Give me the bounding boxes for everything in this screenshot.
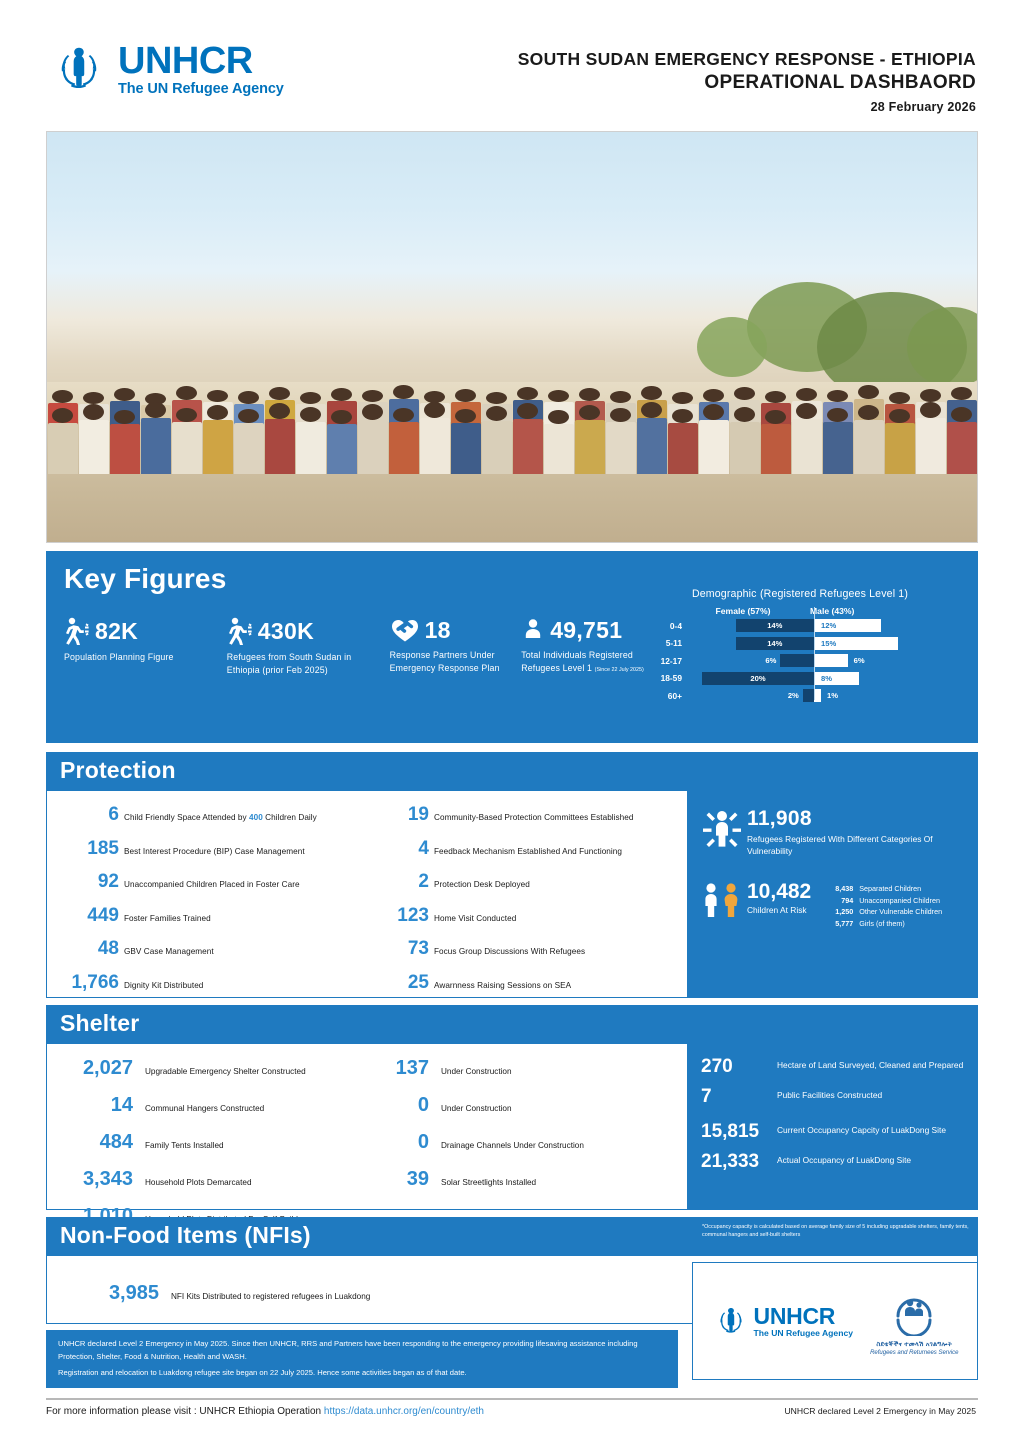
panel-stat-value: 21,333 [701,1151,777,1172]
stat-row: 73Focus Group Discussions With Refugees [377,939,687,959]
stat-label: Household Plots Demarcated [145,1177,252,1188]
demographic-chart: Demographic (Registered Refugees Level 1… [644,587,956,706]
stat-value: 92 [67,872,119,892]
female-bar: 20% [702,672,814,685]
male-bar-wrap: 6% [814,654,952,667]
stat-row: 92Unaccompanied Children Placed in Foste… [67,872,377,892]
stat-label: Upgradable Emergency Shelter Constructed [145,1066,306,1077]
female-bar-value: 6% [765,656,776,665]
demographic-row: 5-1114%15% [644,636,956,651]
dashboard-page: UNHCR The UN Refugee Agency SOUTH SUDAN … [0,0,1024,1449]
stat-value: 123 [377,906,429,926]
demographic-row: 18-5920%8% [644,671,956,686]
stat-row: 6Child Friendly Space Attended by 400 Ch… [67,805,377,825]
stat-row: 48GBV Case Management [67,939,377,959]
breakdown-row: 1,250Other Vulnerable Children [821,907,942,918]
male-bar-value: 6% [854,656,865,665]
stat-value: 484 [61,1132,133,1153]
stat-label: Community-Based Protection Committees Es… [434,812,634,823]
footer-note: UNHCR declared Level 2 Emergency in May … [784,1406,978,1417]
panel-stat-row: 15,815Current Occupancy Capcity of LuakD… [701,1121,965,1142]
rrs-emblem-icon [886,1286,942,1336]
female-bar: 14% [736,619,814,632]
stat-label: Awarnness Raising Sessions on SEA [434,980,571,991]
emergency-note-line2: Registration and relocation to Luakdong … [58,1367,668,1380]
stat-value: 449 [67,906,119,926]
stat-value: 19 [377,805,429,825]
breakdown-label: Separated Children [859,884,921,895]
legend-male: Male (43%) [796,606,956,616]
key-figure-label: Refugees from South Sudan in Ethiopia (p… [227,651,378,676]
stat-row: 19Community-Based Protection Committees … [377,805,687,825]
vulnerability-block: 11,908 Refugees Registered With Differen… [687,791,977,857]
male-bar: 15% [814,637,898,650]
stat-label: Child Friendly Space Attended by 400 Chi… [124,812,317,823]
legend-female: Female (57%) [644,606,796,616]
stat-value: 2,027 [61,1058,133,1079]
unhcr-logo: UNHCR The UN Refugee Agency [48,38,284,100]
occupancy-disclaimer: *Occupancy capacity is calculated based … [692,1217,978,1245]
female-bar [803,689,814,702]
header-titles: SOUTH SUDAN EMERGENCY RESPONSE - ETHIOPI… [518,48,976,114]
panel-stat-value: 15,815 [701,1121,777,1142]
demographic-legend: Female (57%) Male (43%) [644,606,956,616]
key-figure-label: Population Planning Figure [64,651,215,664]
stat-value: 73 [377,939,429,959]
panel-stat-value: 270 [701,1056,777,1077]
stat-label: Unaccompanied Children Placed in Foster … [124,879,300,890]
stat-label: Solar Streetlights Installed [441,1177,536,1188]
male-bar-wrap: 8% [814,672,952,685]
male-bar-value: 1% [827,691,838,700]
vulnerability-value: 11,908 [747,807,977,830]
stat-value: 0 [379,1132,429,1153]
stat-value: 14 [61,1095,133,1116]
stat-row: 185Best Interest Procedure (BIP) Case Ma… [67,839,377,859]
partners-handshake-heart-icon [390,617,420,643]
shelter-column-right: 137Under Construction0Under Construction… [379,1058,679,1209]
stat-value: 137 [379,1058,429,1079]
stat-label: Dignity Kit Distributed [124,980,203,991]
footer-divider [46,1398,978,1400]
stat-label: Home Visit Conducted [434,913,516,924]
key-figure-sublabel: (Since 22 July 2025) [595,667,644,673]
emergency-note: UNHCR declared Level 2 Emergency in May … [46,1330,678,1388]
protection-stats: 6Child Friendly Space Attended by 400 Ch… [47,791,687,997]
female-bar [780,654,814,667]
stat-row: 137Under Construction [379,1058,679,1079]
panel-stat-value: 7 [701,1086,777,1107]
key-figure-item: 82K Population Planning Figure [64,617,227,676]
stat-row: 2,027Upgradable Emergency Shelter Constr… [61,1058,379,1079]
logo-tagline: The UN Refugee Agency [118,81,284,97]
hero-photo [46,131,978,543]
shelter-section: Shelter 2,027Upgradable Emergency Shelte… [46,1005,978,1209]
stat-value: 48 [67,939,119,959]
protection-highlight-panel: 11,908 Refugees Registered With Differen… [687,791,977,997]
stat-row: 3,343Household Plots Demarcated [61,1169,379,1190]
stat-label: Under Construction [441,1066,512,1077]
male-bar [814,654,848,667]
stat-row: 123Home Visit Conducted [377,906,687,926]
panel-stat-label: Hectare of Land Surveyed, Cleaned and Pr… [777,1056,963,1072]
stat-row: 0Under Construction [379,1095,679,1116]
rrs-name-english: Refugees and Returnees Service [870,1350,958,1356]
breakdown-label: Unaccompanied Children [859,896,940,907]
page-header: UNHCR The UN Refugee Agency SOUTH SUDAN … [0,0,1024,122]
stat-row: 484Family Tents Installed [61,1132,379,1153]
stat-label: Best Interest Procedure (BIP) Case Manag… [124,846,305,857]
footer-info: For more information please visit : UNHC… [46,1406,484,1417]
stat-row: 25Awarnness Raising Sessions on SEA [377,973,687,993]
children-at-risk-value: 10,482 [747,881,811,903]
key-figure-item: 18 Response Partners Under Emergency Res… [390,617,522,676]
key-figure-label: Response Partners Under Emergency Respon… [390,649,510,674]
protection-title: Protection [46,752,978,791]
age-group-label: 18-59 [644,673,688,683]
stat-row: 1,766Dignity Kit Distributed [67,973,377,993]
male-bar: 8% [814,672,859,685]
female-bar: 14% [736,637,814,650]
stat-row: 39Solar Streetlights Installed [379,1169,679,1190]
refugee-walking-icon [227,617,253,645]
logo-wordmark: UNHCR [118,42,284,80]
male-bar-wrap: 15% [814,637,952,650]
stat-row: 14Communal Hangers Constructed [61,1095,379,1116]
key-figure-item: 430K Refugees from South Sudan in Ethiop… [227,617,390,676]
person-icon [521,617,545,643]
children-breakdown: 8,438Separated Children794Unaccompanied … [821,884,942,930]
breakdown-row: 5,777Girls (of them) [821,919,942,930]
stat-row: 2Protection Desk Deployed [377,872,687,892]
male-bar: 12% [814,619,881,632]
panel-stat-label: Current Occupancy Capcity of LuakDong Si… [777,1121,946,1137]
stat-value: 185 [67,839,119,859]
stat-label: GBV Case Management [124,946,214,957]
unhcr-logo-footer: UNHCR The UN Refugee Agency [712,1302,853,1340]
demographic-axis [814,607,815,700]
stat-highlight-value: 400 [249,813,263,822]
stat-label: Focus Group Discussions With Refugees [434,946,585,957]
key-figure-value: 18 [425,617,451,643]
stat-value: 6 [67,805,119,825]
panel-stat-label: Actual Occupancy of LuakDong Site [777,1151,911,1167]
stat-row: 0Drainage Channels Under Construction [379,1132,679,1153]
unhcr-logo-footer-wordmark: UNHCR [754,1305,853,1328]
key-figures-list: 82K Population Planning Figure 430K Ref [64,617,684,676]
age-group-label: 5-11 [644,638,688,648]
page-footer: For more information please visit : UNHC… [46,1406,978,1417]
two-children-icon [701,881,747,926]
key-figures-section: Key Figures 82K Population Planning Figu… [46,551,978,743]
children-at-risk-block: 10,482 Children At Risk 8,438Separated C… [687,857,977,930]
demographic-title-sub: (Registered Refugees Level 1) [760,588,908,600]
age-group-label: 12-17 [644,656,688,666]
nfi-label: NFI Kits Distributed to registered refug… [171,1292,370,1301]
demographic-row: 60+2%1% [644,688,956,703]
shelter-highlight-panel: 270Hectare of Land Surveyed, Cleaned and… [687,1044,977,1209]
stat-value: 2 [377,872,429,892]
stat-value: 3,343 [61,1169,133,1190]
male-bar-wrap: 12% [814,619,952,632]
demographic-bars: 0-414%12%5-1114%15%12-176%6%18-5920%8%60… [644,618,956,703]
protection-column-left: 6Child Friendly Space Attended by 400 Ch… [67,805,377,997]
female-bar-wrap: 2% [688,689,814,702]
stat-value: 1,766 [67,973,119,993]
key-figure-value: 430K [258,618,314,644]
stat-value: 4 [377,839,429,859]
male-bar [814,689,821,702]
breakdown-value: 1,250 [821,907,853,918]
stat-value: 25 [377,973,429,993]
report-date: 28 February 2026 [518,100,976,114]
demographic-title-main: Demographic [692,588,757,600]
shelter-title: Shelter [46,1005,978,1044]
unhcr-emblem-icon [48,38,110,100]
page-title: SOUTH SUDAN EMERGENCY RESPONSE - ETHIOPI… [518,48,976,70]
key-figure-value: 82K [95,618,138,644]
refugee-walking-icon [64,617,90,645]
footer-link[interactable]: https://data.unhcr.org/en/country/eth [324,1406,484,1417]
rrs-logo: ስደቴኞችና ተመላሽ አገልግሎት Refugees and Returnee… [870,1286,958,1356]
stat-value: 0 [379,1095,429,1116]
panel-stat-row: 270Hectare of Land Surveyed, Cleaned and… [701,1056,965,1077]
protection-column-right: 19Community-Based Protection Committees … [377,805,687,997]
female-bar-wrap: 14% [688,637,814,650]
stat-label: Foster Families Trained [124,913,211,924]
nfi-value: 3,985 [69,1282,159,1305]
shelter-stats: 2,027Upgradable Emergency Shelter Constr… [47,1044,687,1209]
vulnerability-label: Refugees Registered With Different Categ… [747,833,977,857]
panel-stat-row: 7Public Facilities Constructed [701,1086,965,1107]
footer-info-text: For more information please visit : UNHC… [46,1406,324,1417]
breakdown-row: 794Unaccompanied Children [821,896,942,907]
breakdown-value: 8,438 [821,884,853,895]
breakdown-value: 5,777 [821,919,853,930]
female-bar-wrap: 14% [688,619,814,632]
children-at-risk-label: Children At Risk [747,905,811,915]
stat-value: 39 [379,1169,429,1190]
emergency-note-line1: UNHCR declared Level 2 Emergency in May … [58,1338,668,1363]
female-bar-value: 2% [788,691,799,700]
panel-stat-label: Public Facilities Constructed [777,1086,882,1102]
page-subtitle: OPERATIONAL DASHBAORD [518,70,976,95]
stat-row: 449Foster Families Trained [67,906,377,926]
demographic-title: Demographic (Registered Refugees Level 1… [644,587,956,600]
breakdown-label: Girls (of them) [859,919,905,930]
partner-logos: UNHCR The UN Refugee Agency ስደቴኞችና ተመላሽ … [692,1262,978,1380]
stat-row: 4Feedback Mechanism Established And Func… [377,839,687,859]
protection-section: Protection 6Child Friendly Space Attende… [46,752,978,997]
panel-stat-row: 21,333Actual Occupancy of LuakDong Site [701,1151,965,1172]
demographic-row: 0-414%12% [644,618,956,633]
stat-label: Protection Desk Deployed [434,879,530,890]
female-bar-wrap: 20% [688,672,814,685]
male-bar-wrap: 1% [814,689,952,702]
breakdown-value: 794 [821,896,853,907]
stat-label: Under Construction [441,1103,512,1114]
key-figure-value: 49,751 [550,617,622,643]
person-vulnerability-icon [701,807,747,856]
breakdown-label: Other Vulnerable Children [859,907,942,918]
stat-label: Family Tents Installed [145,1140,224,1151]
age-group-label: 0-4 [644,621,688,631]
age-group-label: 60+ [644,691,688,701]
breakdown-row: 8,438Separated Children [821,884,942,895]
rrs-name-amharic: ስደቴኞችና ተመላሽ አገልግሎት [870,1341,958,1349]
unhcr-logo-footer-tagline: The UN Refugee Agency [754,1328,853,1338]
unhcr-emblem-icon [712,1302,750,1340]
shelter-column-left: 2,027Upgradable Emergency Shelter Constr… [61,1058,379,1209]
female-bar-wrap: 6% [688,654,814,667]
demographic-row: 12-176%6% [644,653,956,668]
stat-label: Communal Hangers Constructed [145,1103,264,1114]
stat-label: Feedback Mechanism Established And Funct… [434,846,622,857]
stat-label: Drainage Channels Under Construction [441,1140,584,1151]
